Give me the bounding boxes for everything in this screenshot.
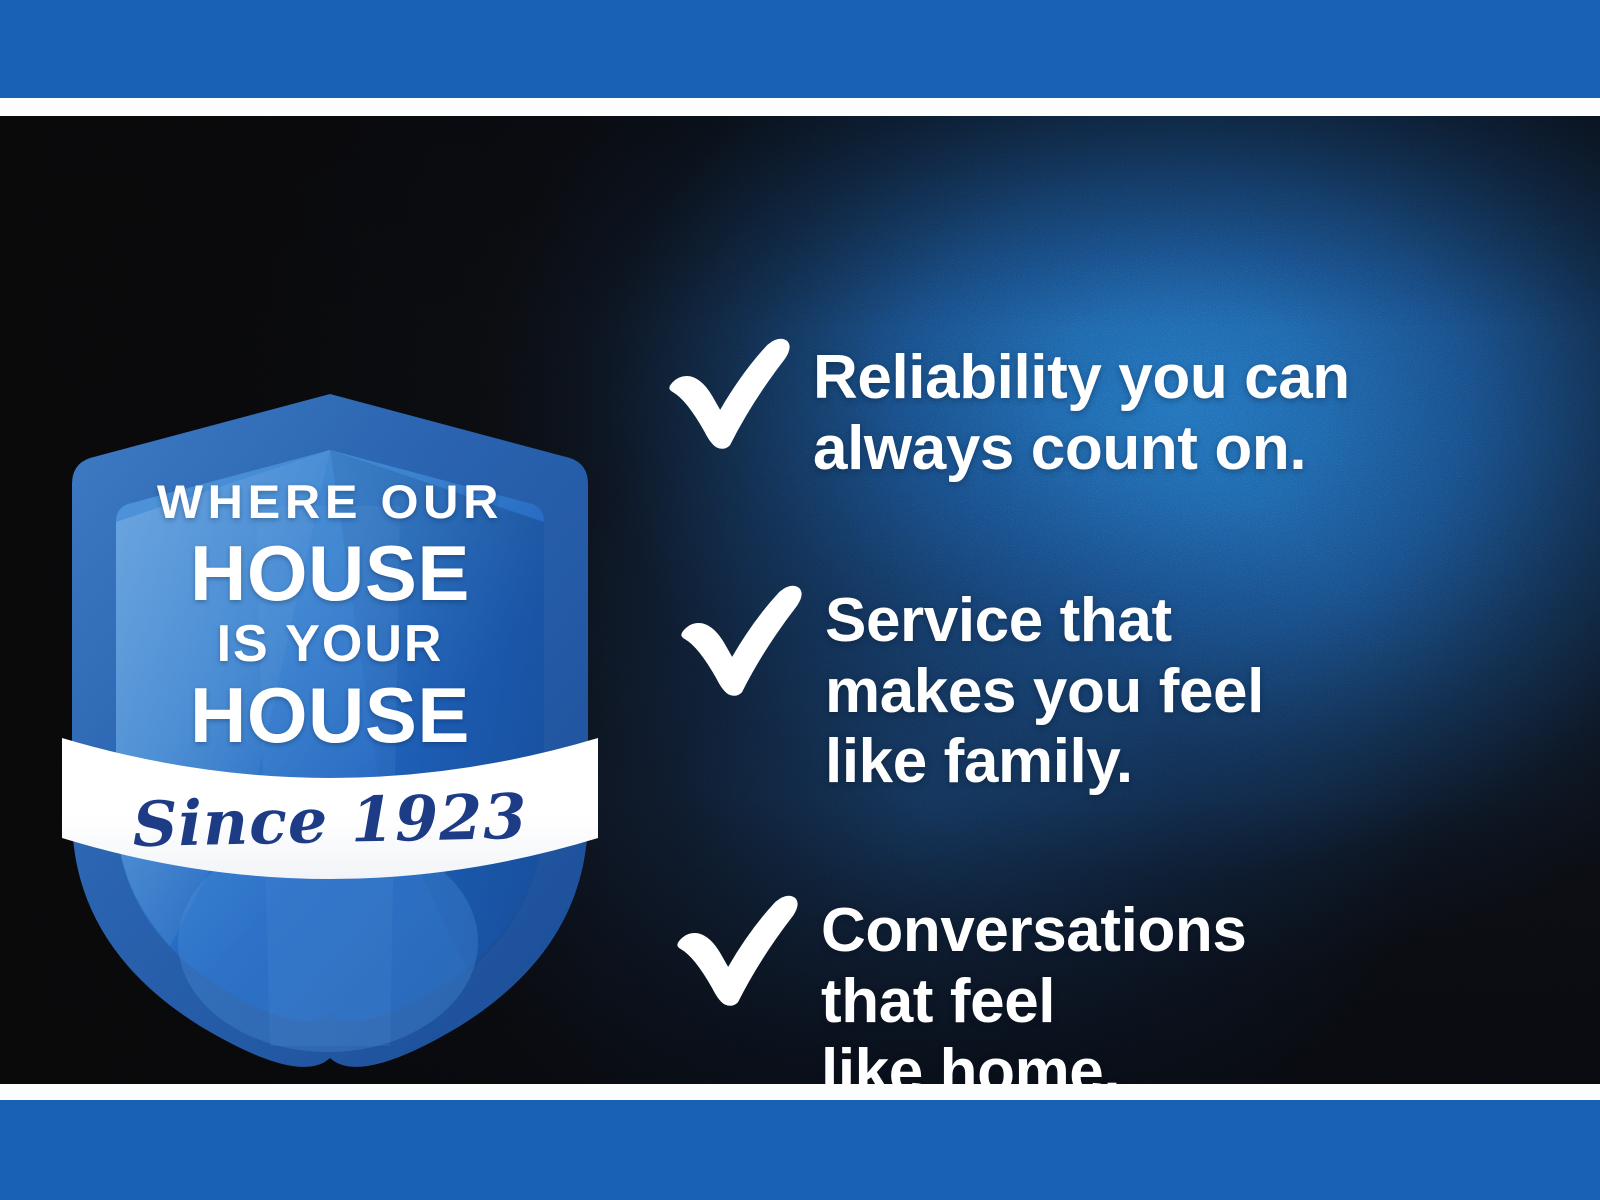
list-item-text: Reliability you can always count on. (813, 335, 1350, 484)
main-stage: WHERE OUR HOUSE IS YOUR HOUSE Since 1923… (0, 116, 1600, 1084)
checkmark-icon (673, 892, 801, 1008)
checkmark-icon (677, 582, 805, 698)
list-item: Reliability you can always count on. (665, 335, 1350, 484)
list-item: Conversations that feel like home. (673, 892, 1246, 1084)
value-points-list: Reliability you can always count on. Ser… (665, 232, 1545, 1084)
list-item: Service that makes you feel like family. (677, 582, 1264, 798)
bottom-accent-band (0, 1100, 1600, 1200)
shield-badge-icon (60, 386, 600, 1066)
promo-poster: WHERE OUR HOUSE IS YOUR HOUSE Since 1923… (0, 0, 1600, 1200)
bottom-separator-line (0, 1084, 1600, 1100)
company-badge: WHERE OUR HOUSE IS YOUR HOUSE Since 1923 (60, 386, 600, 1066)
list-item-text: Service that makes you feel like family. (825, 582, 1264, 798)
list-item-text: Conversations that feel like home. (821, 892, 1246, 1084)
checkmark-icon (665, 335, 793, 451)
top-accent-band (0, 0, 1600, 98)
top-separator-line (0, 98, 1600, 116)
